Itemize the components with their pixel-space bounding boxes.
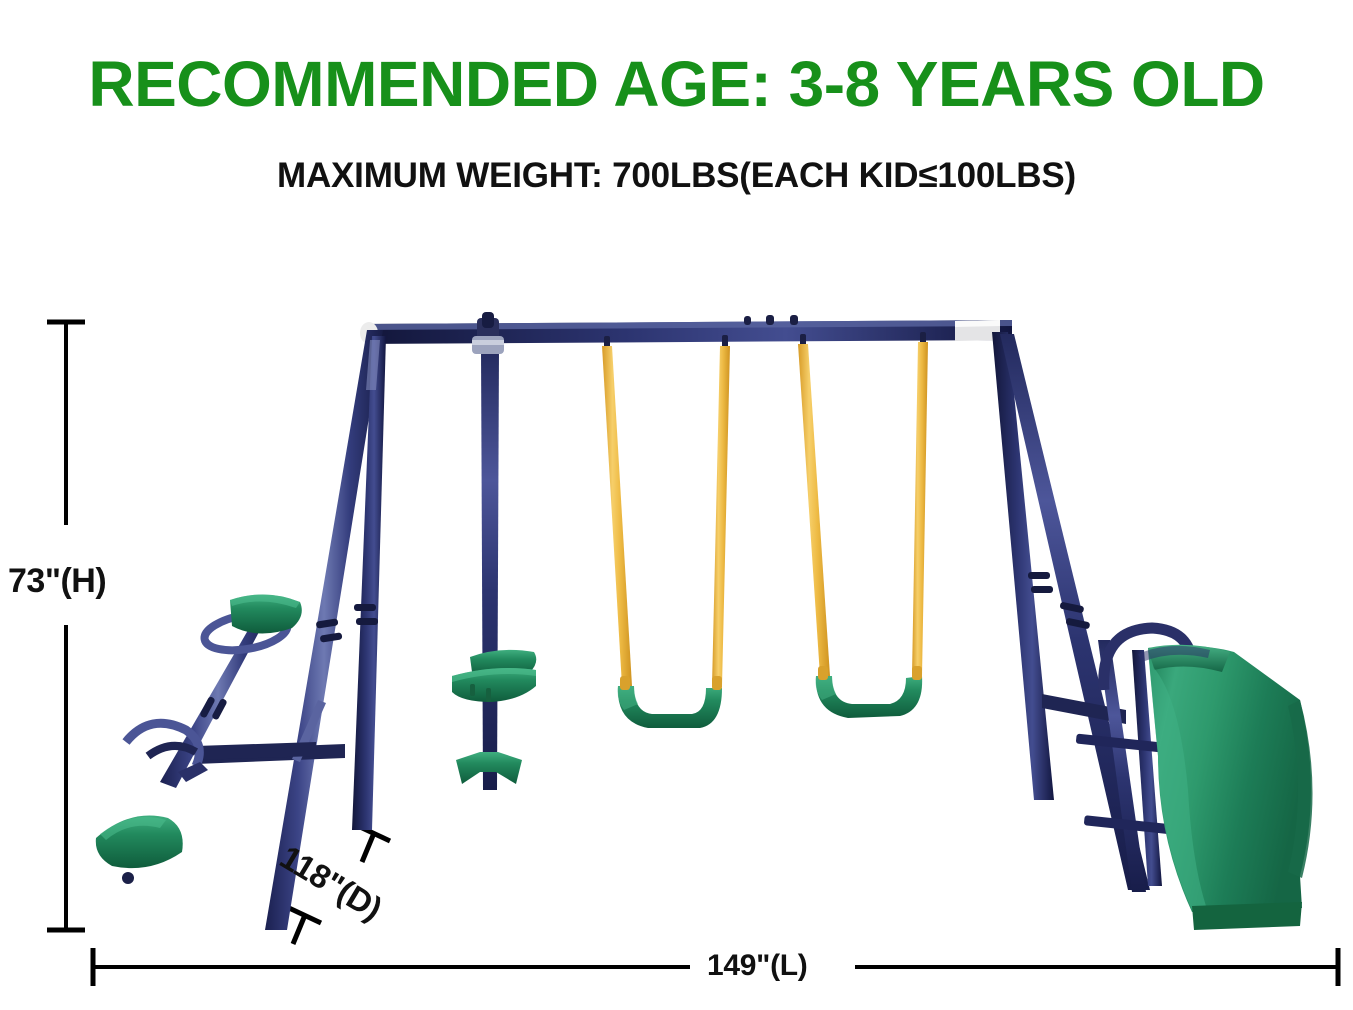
product-spec-image: RECOMMENDED AGE: 3-8 YEARS OLD MAXIMUM W… — [0, 0, 1353, 1010]
swing-rope-icon — [798, 344, 830, 676]
dimension-height — [47, 322, 85, 930]
page-title-recommended-age: RECOMMENDED AGE: 3-8 YEARS OLD — [0, 52, 1353, 116]
swing-rope-icon — [912, 342, 928, 676]
top-beam — [360, 315, 1012, 350]
swing-rope-icon — [712, 346, 730, 686]
page-subtitle-maximum-weight: MAXIMUM WEIGHT: 700LBS(EACH KID≤100LBS) — [0, 158, 1353, 193]
swivel-pole — [472, 312, 504, 790]
dimension-height-label: 73"(H) — [8, 562, 106, 601]
dimension-length-label: 149"(L) — [695, 949, 819, 983]
belt-swing-left — [602, 346, 730, 728]
swing-rope-icon — [602, 346, 632, 686]
swing-set-illustration — [0, 0, 1353, 1010]
belt-swing-right — [798, 342, 928, 718]
